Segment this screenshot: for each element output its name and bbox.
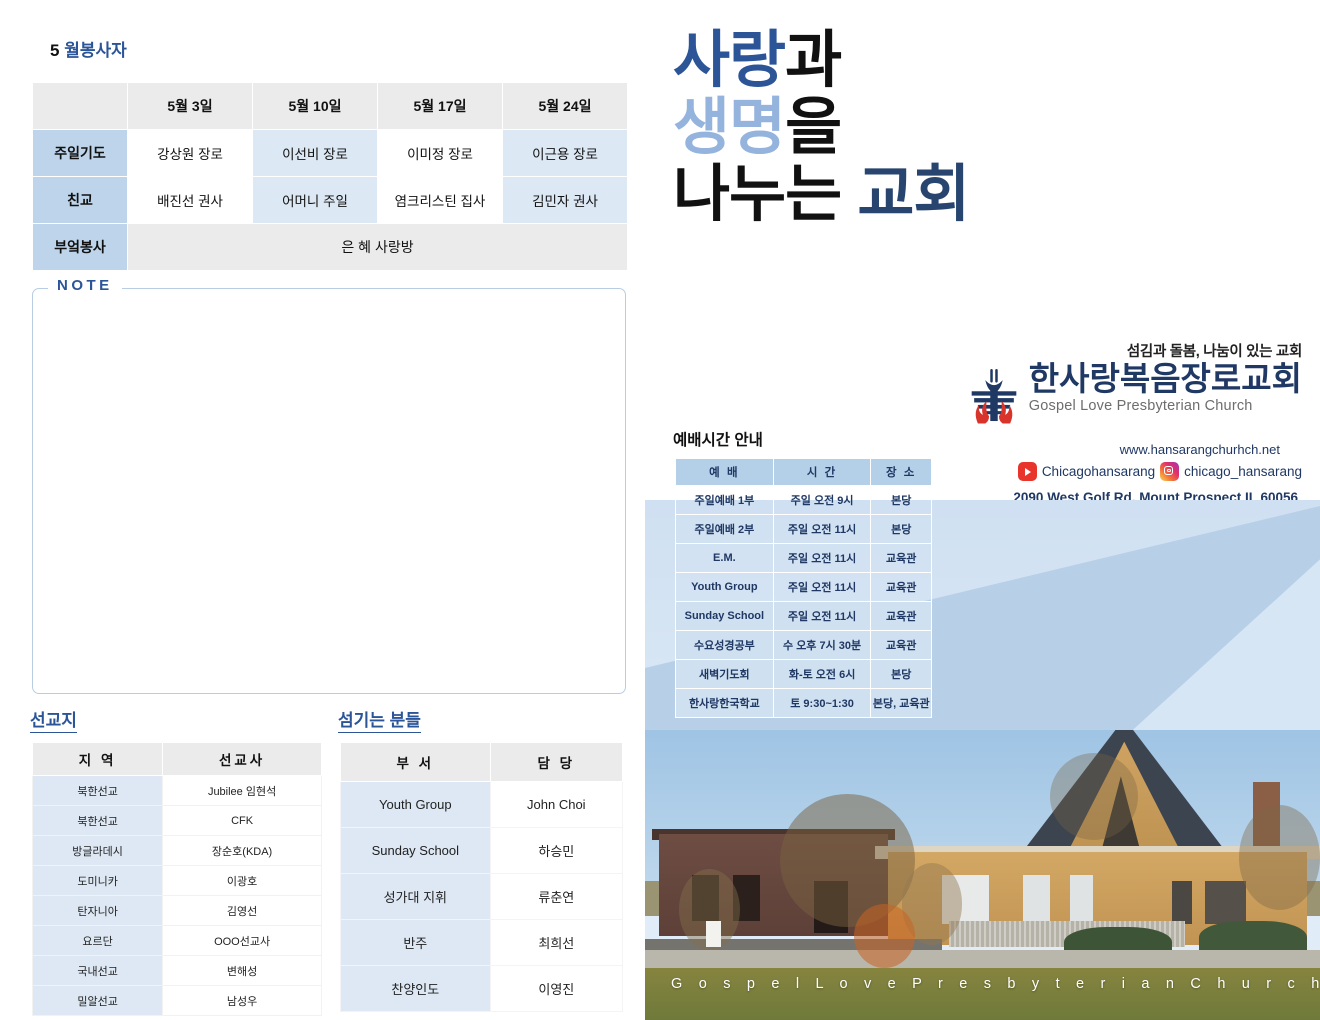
volunteer-table: 5월 3일 5월 10일 5월 17일 5월 24일 주일기도 강상원 장로 이… <box>32 82 628 271</box>
worship-place-4: 교육관 <box>871 573 932 602</box>
servants-person-1: John Choi <box>490 782 622 828</box>
church-building-photo: G o s p e l L o v e P r e s b y t e r i … <box>645 730 1320 1020</box>
table-row: 탄자니아 김영선 <box>33 896 322 926</box>
volunteer-cell-fellowship-3: 염크리스틴 집사 <box>378 177 503 224</box>
mission-name-4: 이광호 <box>163 866 322 896</box>
worship-service-8: 한사랑한국학교 <box>676 689 774 718</box>
table-row: 방글라데시 장순호(KDA) <box>33 836 322 866</box>
youtube-icon[interactable] <box>1018 462 1037 481</box>
worship-time-8: 토 9:30~1:30 <box>773 689 871 718</box>
table-row: 국내선교 변해성 <box>33 956 322 986</box>
worship-service-4: Youth Group <box>676 573 774 602</box>
servants-person-5: 이영진 <box>490 966 622 1012</box>
headline-church: 교회 <box>857 160 969 229</box>
note-section[interactable]: NOTE <box>32 288 626 694</box>
volunteer-col-1: 5월 3일 <box>128 83 253 130</box>
volunteer-cell-prayer-3: 이미정 장로 <box>378 130 503 177</box>
volunteer-cell-fellowship-2: 어머니 주일 <box>253 177 378 224</box>
volunteer-corner-cell <box>33 83 128 130</box>
mission-col-missionary: 선교사 <box>163 743 322 776</box>
right-column: 사랑과 생명을 나누는 교회 섬김과 돌봄, 나눔이 있는 교회 <box>645 0 1320 1020</box>
mission-name-1: Jubilee 임현석 <box>163 776 322 806</box>
church-logo-block: 한사랑복음장로교회 Gospel Love Presbyterian Churc… <box>963 362 1302 426</box>
mission-region-6: 요르단 <box>33 926 163 956</box>
table-row: 주일예배 1부 주일 오전 9시 본당 <box>676 486 932 515</box>
mission-name-3: 장순호(KDA) <box>163 836 322 866</box>
church-name-block: 한사랑복음장로교회 Gospel Love Presbyterian Churc… <box>1029 362 1302 414</box>
table-row: 찬양인도 이영진 <box>341 966 623 1012</box>
mission-name-6: OOO선교사 <box>163 926 322 956</box>
mission-region-5: 탄자니아 <box>33 896 163 926</box>
mission-region-2: 북한선교 <box>33 806 163 836</box>
table-row: 주일예배 2부 주일 오전 11시 본당 <box>676 515 932 544</box>
youtube-handle[interactable]: Chicagohansarang <box>1042 464 1155 479</box>
servants-dept-2: Sunday School <box>341 828 491 874</box>
servants-dept-4: 반주 <box>341 920 491 966</box>
servants-title-text: 섬기는 분들 <box>338 712 421 733</box>
worship-place-2: 본당 <box>871 515 932 544</box>
photo-tree-5 <box>1239 805 1320 909</box>
worship-service-5: Sunday School <box>676 602 774 631</box>
headline-sharing: 나누는 <box>673 160 857 229</box>
volunteer-cell-kitchen: 은 혜 사랑방 <box>128 224 628 271</box>
table-row: Sunday School 하승민 <box>341 828 623 874</box>
left-column: 5 월봉사자 5월 3일 5월 10일 5월 17일 5월 24일 주일기도 강… <box>0 0 645 1020</box>
mission-name-5: 김영선 <box>163 896 322 926</box>
church-window-c <box>1070 875 1093 924</box>
presbyterian-cross-icon <box>963 364 1025 426</box>
worship-place-7: 본당 <box>871 660 932 689</box>
social-links: Chicagohansarang chicago_hansarang <box>1018 462 1302 481</box>
mission-table: 지 역 선교사 북한선교 Jubilee 임현석 북한선교 CFK 방글라데시 … <box>32 742 322 1016</box>
photo-caption: G o s p e l L o v e P r e s b y t e r i … <box>671 976 1320 992</box>
worship-service-6: 수요성경공부 <box>676 631 774 660</box>
table-row: Youth Group John Choi <box>341 782 623 828</box>
table-row: 밀알선교 남성우 <box>33 986 322 1016</box>
servants-person-3: 류춘연 <box>490 874 622 920</box>
volunteer-title-month: 5 <box>50 41 59 60</box>
table-row: 요르단 OOO선교사 <box>33 926 322 956</box>
table-header-row: 예 배 시 간 장 소 <box>676 459 932 486</box>
instagram-handle[interactable]: chicago_hansarang <box>1184 464 1302 479</box>
photo-tree-4 <box>1050 753 1138 840</box>
mission-name-8: 남성우 <box>163 986 322 1016</box>
headline-line-2: 생명을 <box>673 95 969 162</box>
table-header-row: 지 역 선교사 <box>33 743 322 776</box>
table-row: Sunday School 주일 오전 11시 교육관 <box>676 602 932 631</box>
worship-col-service: 예 배 <box>676 459 774 486</box>
headline-slogan: 사랑과 생명을 나누는 교회 <box>673 28 969 229</box>
volunteer-section-title: 5 월봉사자 <box>50 42 127 61</box>
table-row: 친교 배진선 권사 어머니 주일 염크리스틴 집사 김민자 권사 <box>33 177 628 224</box>
table-row: 성가대 지휘 류춘연 <box>341 874 623 920</box>
instagram-icon[interactable] <box>1160 462 1179 481</box>
headline-line-3: 나누는 교회 <box>673 162 969 229</box>
table-row: 부엌봉사 은 혜 사랑방 <box>33 224 628 271</box>
servants-col-dept: 부 서 <box>341 743 491 782</box>
worship-place-6: 교육관 <box>871 631 932 660</box>
worship-time-2: 주일 오전 11시 <box>773 515 871 544</box>
worship-col-time: 시 간 <box>773 459 871 486</box>
volunteer-title-text: 월봉사자 <box>64 41 127 60</box>
worship-place-5: 교육관 <box>871 602 932 631</box>
mission-name-2: CFK <box>163 806 322 836</box>
headline-line1-suffix: 과 <box>785 26 841 95</box>
servants-dept-5: 찬양인도 <box>341 966 491 1012</box>
volunteer-cell-prayer-4: 이근용 장로 <box>503 130 628 177</box>
mission-region-1: 북한선교 <box>33 776 163 806</box>
table-row: 도미니카 이광호 <box>33 866 322 896</box>
volunteer-cell-prayer-1: 강상원 장로 <box>128 130 253 177</box>
note-box[interactable] <box>32 288 626 694</box>
worship-place-3: 교육관 <box>871 544 932 573</box>
website-url[interactable]: www.hansarangchurhch.net <box>1120 442 1280 457</box>
servants-table: 부 서 담 당 Youth Group John Choi Sunday Sch… <box>340 742 623 1012</box>
church-window-d <box>1172 881 1192 925</box>
table-row: 한사랑한국학교 토 9:30~1:30 본당, 교육관 <box>676 689 932 718</box>
worship-time-3: 주일 오전 11시 <box>773 544 871 573</box>
photo-autumn-shrub <box>854 904 915 968</box>
bulletin-page: 5 월봉사자 5월 3일 5월 10일 5월 17일 5월 24일 주일기도 강… <box>0 0 1320 1020</box>
worship-service-1: 주일예배 1부 <box>676 486 774 515</box>
servants-dept-3: 성가대 지휘 <box>341 874 491 920</box>
mission-region-4: 도미니카 <box>33 866 163 896</box>
table-row: Youth Group 주일 오전 11시 교육관 <box>676 573 932 602</box>
headline-life: 생명 <box>673 93 785 162</box>
servants-dept-1: Youth Group <box>341 782 491 828</box>
volunteer-col-3: 5월 17일 <box>378 83 503 130</box>
note-label: NOTE <box>48 277 122 294</box>
headline-line-1: 사랑과 <box>673 28 969 95</box>
volunteer-col-2: 5월 10일 <box>253 83 378 130</box>
volunteer-cell-fellowship-4: 김민자 권사 <box>503 177 628 224</box>
volunteer-cell-prayer-2: 이선비 장로 <box>253 130 378 177</box>
worship-time-7: 화-토 오전 6시 <box>773 660 871 689</box>
mission-name-7: 변해성 <box>163 956 322 986</box>
church-window-b <box>1023 875 1050 924</box>
table-row: 반주 최희선 <box>341 920 623 966</box>
servants-person-4: 최희선 <box>490 920 622 966</box>
servants-col-person: 담 당 <box>490 743 622 782</box>
volunteer-cell-fellowship-1: 배진선 권사 <box>128 177 253 224</box>
worship-section-title: 예배시간 안내 <box>673 428 763 450</box>
worship-time-5: 주일 오전 11시 <box>773 602 871 631</box>
worship-schedule-table: 예 배 시 간 장 소 주일예배 1부 주일 오전 9시 본당 주일예배 2부 … <box>675 458 932 718</box>
worship-time-4: 주일 오전 11시 <box>773 573 871 602</box>
table-row: E.M. 주일 오전 11시 교육관 <box>676 544 932 573</box>
table-header-row: 5월 3일 5월 10일 5월 17일 5월 24일 <box>33 83 628 130</box>
worship-service-3: E.M. <box>676 544 774 573</box>
worship-place-1: 본당 <box>871 486 932 515</box>
volunteer-row-label-kitchen: 부엌봉사 <box>33 224 128 271</box>
church-slogan: 섬김과 돌봄, 나눔이 있는 교회 <box>1127 340 1302 361</box>
table-row: 북한선교 CFK <box>33 806 322 836</box>
mission-region-3: 방글라데시 <box>33 836 163 866</box>
table-row: 새벽기도회 화-토 오전 6시 본당 <box>676 660 932 689</box>
volunteer-col-4: 5월 24일 <box>503 83 628 130</box>
photo-sign-post <box>706 921 721 947</box>
servants-section-title: 섬기는 분들 <box>338 712 421 733</box>
volunteer-row-label-fellowship: 친교 <box>33 177 128 224</box>
worship-place-8: 본당, 교육관 <box>871 689 932 718</box>
worship-time-6: 수 오후 7시 30분 <box>773 631 871 660</box>
church-name-korean: 한사랑복음장로교회 <box>1029 362 1302 397</box>
servants-person-2: 하승민 <box>490 828 622 874</box>
mission-region-7: 국내선교 <box>33 956 163 986</box>
church-name-english: Gospel Love Presbyterian Church <box>1029 398 1253 414</box>
volunteer-row-label-prayer: 주일기도 <box>33 130 128 177</box>
mission-section-title: 선교지 <box>30 712 77 733</box>
mission-region-8: 밀알선교 <box>33 986 163 1016</box>
headline-love: 사랑 <box>673 26 785 95</box>
worship-service-2: 주일예배 2부 <box>676 515 774 544</box>
church-entrance <box>1205 881 1246 925</box>
worship-service-7: 새벽기도회 <box>676 660 774 689</box>
table-row: 주일기도 강상원 장로 이선비 장로 이미정 장로 이근용 장로 <box>33 130 628 177</box>
worship-time-1: 주일 오전 9시 <box>773 486 871 515</box>
mission-col-region: 지 역 <box>33 743 163 776</box>
worship-col-place: 장 소 <box>871 459 932 486</box>
mission-title-text: 선교지 <box>30 712 77 733</box>
table-header-row: 부 서 담 당 <box>341 743 623 782</box>
table-row: 북한선교 Jubilee 임현석 <box>33 776 322 806</box>
headline-line2-suffix: 을 <box>785 93 841 162</box>
table-row: 수요성경공부 수 오후 7시 30분 교육관 <box>676 631 932 660</box>
